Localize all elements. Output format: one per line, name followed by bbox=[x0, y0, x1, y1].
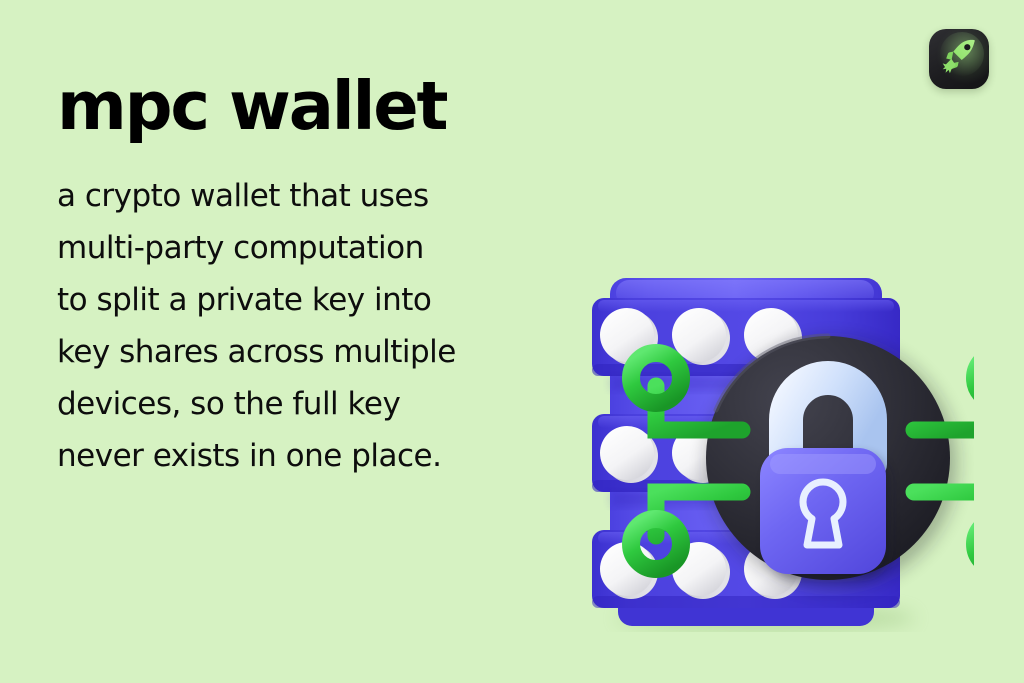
definition-line: key shares across multiple bbox=[57, 326, 547, 378]
mpc-wallet-illustration bbox=[570, 268, 974, 632]
definition-line: never exists in one place. bbox=[57, 430, 547, 482]
glossary-card: mpc wallet a crypto wallet that uses mul… bbox=[0, 0, 1024, 683]
definition-line: multi-party computation bbox=[57, 222, 547, 274]
definition-line: to split a private key into bbox=[57, 274, 547, 326]
page-title: mpc wallet bbox=[57, 72, 547, 142]
brand-logo-badge[interactable] bbox=[929, 29, 989, 89]
definition-line: a crypto wallet that uses bbox=[57, 170, 547, 222]
text-column: mpc wallet a crypto wallet that uses mul… bbox=[57, 72, 547, 482]
definition-line: devices, so the full key bbox=[57, 378, 547, 430]
definition-text: a crypto wallet that uses multi-party co… bbox=[57, 170, 547, 482]
